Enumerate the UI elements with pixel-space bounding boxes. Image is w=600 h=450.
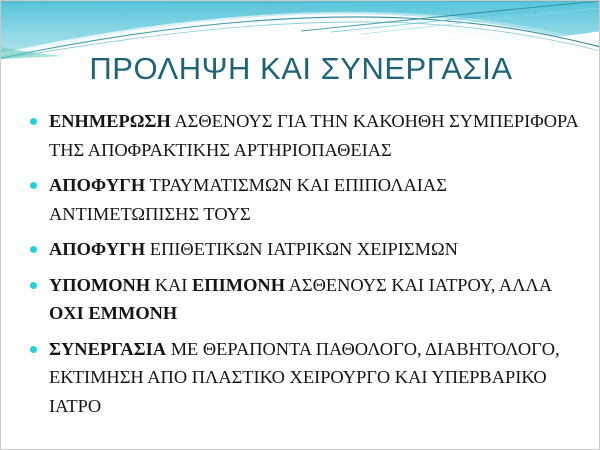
list-item: ΑΠΟΦΥΓΗ ΕΠΙΘΕΤΙΚΩΝ ΙΑΤΡΙΚΩΝ ΧΕΙΡΙΣΜΩΝ — [23, 235, 583, 264]
bullet-dot-icon — [30, 346, 37, 353]
bullet-list: ΕΝΗΜΕΡΩΣΗ ΑΣΘΕΝΟΥΣ ΓΙΑ ΤΗΝ ΚΑΚΟΗΘΗ ΣΥΜΠΕ… — [23, 107, 583, 427]
bullet-dot-icon — [30, 246, 37, 253]
list-item-text: ΥΠΟΜΟΝΗ ΚΑΙ ΕΠΙΜΟΝΗ ΑΣΘΕΝΟΥΣ ΚΑΙ ΙΑΤΡΟΥ,… — [49, 271, 583, 328]
list-item: ΣΥΝΕΡΓΑΣΙΑ ΜΕ ΘΕΡΑΠΟΝΤΑ ΠΑΘΟΛΟΓΟ, ΔΙΑΒΗΤ… — [23, 335, 583, 421]
list-item-text: ΕΝΗΜΕΡΩΣΗ ΑΣΘΕΝΟΥΣ ΓΙΑ ΤΗΝ ΚΑΚΟΗΘΗ ΣΥΜΠΕ… — [49, 107, 583, 164]
list-item-text: ΑΠΟΦΥΓΗ ΕΠΙΘΕΤΙΚΩΝ ΙΑΤΡΙΚΩΝ ΧΕΙΡΙΣΜΩΝ — [49, 235, 583, 264]
page-title: ΠΡΟΛΗΨΗ ΚΑΙ ΣΥΝΕΡΓΑΣΙΑ — [1, 51, 600, 87]
bullet-dot-icon — [30, 282, 37, 289]
bullet-dot-icon — [30, 118, 37, 125]
list-item: ΥΠΟΜΟΝΗ ΚΑΙ ΕΠΙΜΟΝΗ ΑΣΘΕΝΟΥΣ ΚΑΙ ΙΑΤΡΟΥ,… — [23, 271, 583, 328]
list-item-text: ΑΠΟΦΥΓΗ ΤΡΑΥΜΑΤΙΣΜΩΝ ΚΑΙ ΕΠΙΠΟΛΑΙΑΣ ΑΝΤΙ… — [49, 171, 583, 228]
bullet-dot-icon — [30, 182, 37, 189]
list-item: ΕΝΗΜΕΡΩΣΗ ΑΣΘΕΝΟΥΣ ΓΙΑ ΤΗΝ ΚΑΚΟΗΘΗ ΣΥΜΠΕ… — [23, 107, 583, 164]
list-item: ΑΠΟΦΥΓΗ ΤΡΑΥΜΑΤΙΣΜΩΝ ΚΑΙ ΕΠΙΠΟΛΑΙΑΣ ΑΝΤΙ… — [23, 171, 583, 228]
presentation-slide: ΠΡΟΛΗΨΗ ΚΑΙ ΣΥΝΕΡΓΑΣΙΑ ΕΝΗΜΕΡΩΣΗ ΑΣΘΕΝΟΥ… — [0, 0, 600, 450]
list-item-text: ΣΥΝΕΡΓΑΣΙΑ ΜΕ ΘΕΡΑΠΟΝΤΑ ΠΑΘΟΛΟΓΟ, ΔΙΑΒΗΤ… — [49, 335, 583, 421]
